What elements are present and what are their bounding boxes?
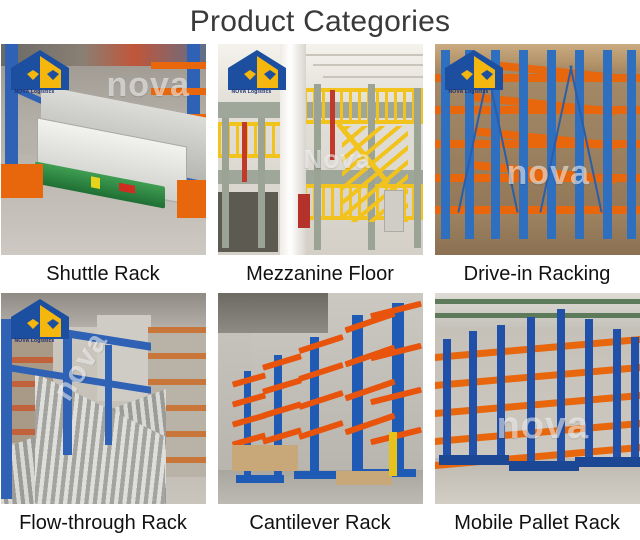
category-image-drive-in-racking[interactable]: nova NOVA Logistics xyxy=(435,44,640,255)
category-card-shuttle-rack[interactable]: nova NOVA Logistics Shuttle Rack xyxy=(1,44,206,293)
category-label-shuttle-rack: Shuttle Rack xyxy=(1,255,206,293)
cantilever-rack-scene xyxy=(218,293,423,504)
drive-in-racking-scene xyxy=(435,44,640,255)
shuttle-rack-scene xyxy=(1,44,206,255)
flow-through-rack-scene xyxy=(1,293,206,504)
page-title: Product Categories xyxy=(0,0,640,44)
product-category-grid: nova NOVA Logistics Shuttle Rack xyxy=(0,44,640,540)
category-image-cantilever-rack[interactable]: NOVA Logistics xyxy=(218,293,423,504)
category-label-mezzanine-floor: Mezzanine Floor xyxy=(218,255,423,293)
category-label-cantilever-rack: Cantilever Rack xyxy=(218,504,423,540)
category-image-flow-through-rack[interactable]: nova NOVA Logistics xyxy=(1,293,206,504)
mobile-pallet-rack-scene xyxy=(435,293,640,504)
category-image-mobile-pallet-rack[interactable]: nova NOVA Logistics xyxy=(435,293,640,504)
product-categories-page: Product Categories xyxy=(0,0,640,540)
category-label-mobile-pallet-rack: Mobile Pallet Rack xyxy=(435,504,640,540)
category-image-shuttle-rack[interactable]: nova NOVA Logistics xyxy=(1,44,206,255)
category-card-mobile-pallet-rack[interactable]: nova NOVA Logistics Mobile Pallet Rack xyxy=(435,293,640,540)
category-label-drive-in-racking: Drive-in Racking xyxy=(435,255,640,293)
mezzanine-floor-scene xyxy=(218,44,423,255)
category-image-mezzanine-floor[interactable]: Nova NOVA Logistics xyxy=(218,44,423,255)
category-card-mezzanine-floor[interactable]: Nova NOVA Logistics Mezzanine Floor xyxy=(218,44,423,293)
category-card-drive-in-racking[interactable]: nova NOVA Logistics Drive-in Racking xyxy=(435,44,640,293)
category-label-flow-through-rack: Flow-through Rack xyxy=(1,504,206,540)
category-card-cantilever-rack[interactable]: NOVA Logistics Cantilever Rack xyxy=(218,293,423,540)
category-card-flow-through-rack[interactable]: nova NOVA Logistics Flow-through Rack xyxy=(1,293,206,540)
